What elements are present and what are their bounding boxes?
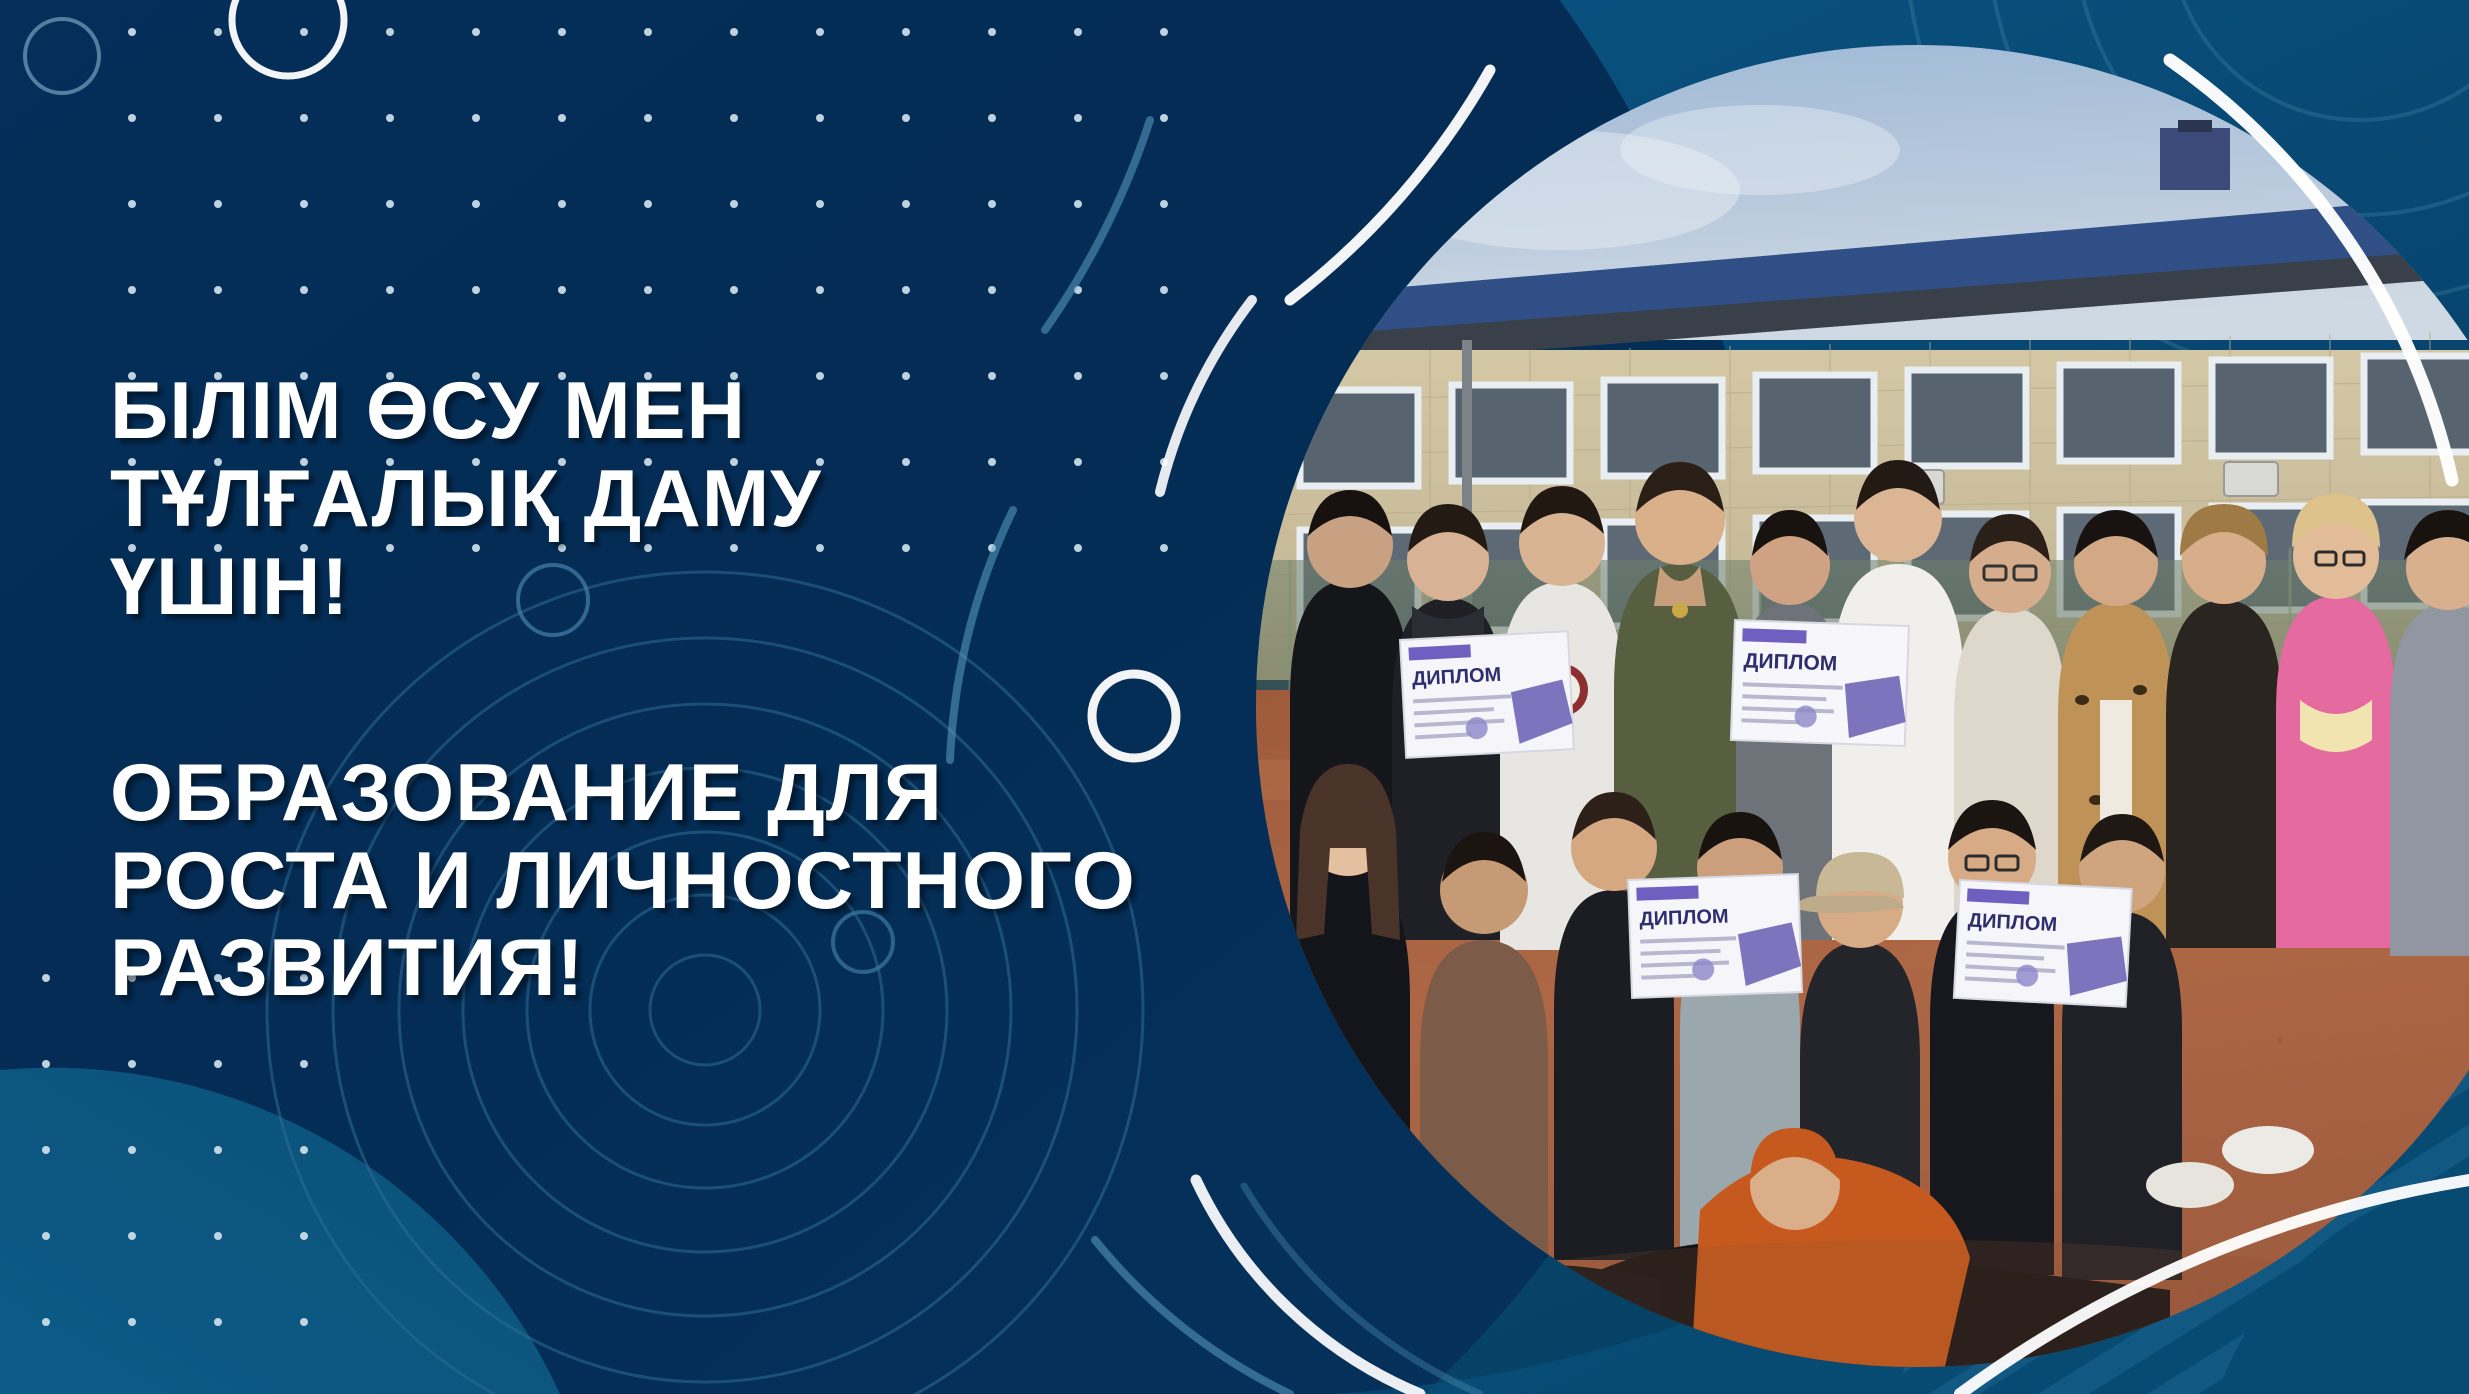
headline-group: БІЛІМ ӨСУ МЕН ТҰЛҒАЛЫҚ ДАМУ ҮШІН! ОБРАЗО… — [110, 368, 1320, 1013]
poster-canvas: ДИПЛОМ ДИПЛОМ — [0, 0, 2469, 1394]
white-accent-arcs — [1160, 60, 2469, 1394]
headline-kk-line-3: ҮШІН! — [110, 544, 930, 632]
headline-ru-line-2: РОСТА И ЛИЧНОСТНОГО — [110, 838, 1290, 926]
headline-kazakh: БІЛІМ ӨСУ МЕН ТҰЛҒАЛЫҚ ДАМУ ҮШІН! — [110, 368, 930, 632]
headline-kk-line-1: БІЛІМ ӨСУ МЕН — [110, 368, 930, 456]
headline-ru-line-1: ОБРАЗОВАНИЕ ДЛЯ — [110, 750, 1290, 838]
headline-russian: ОБРАЗОВАНИЕ ДЛЯ РОСТА И ЛИЧНОСТНОГО РАЗВ… — [110, 750, 1290, 1014]
headline-kk-line-2: ТҰЛҒАЛЫҚ ДАМУ — [110, 456, 930, 544]
headline-ru-line-3: РАЗВИТИЯ! — [110, 925, 1290, 1013]
